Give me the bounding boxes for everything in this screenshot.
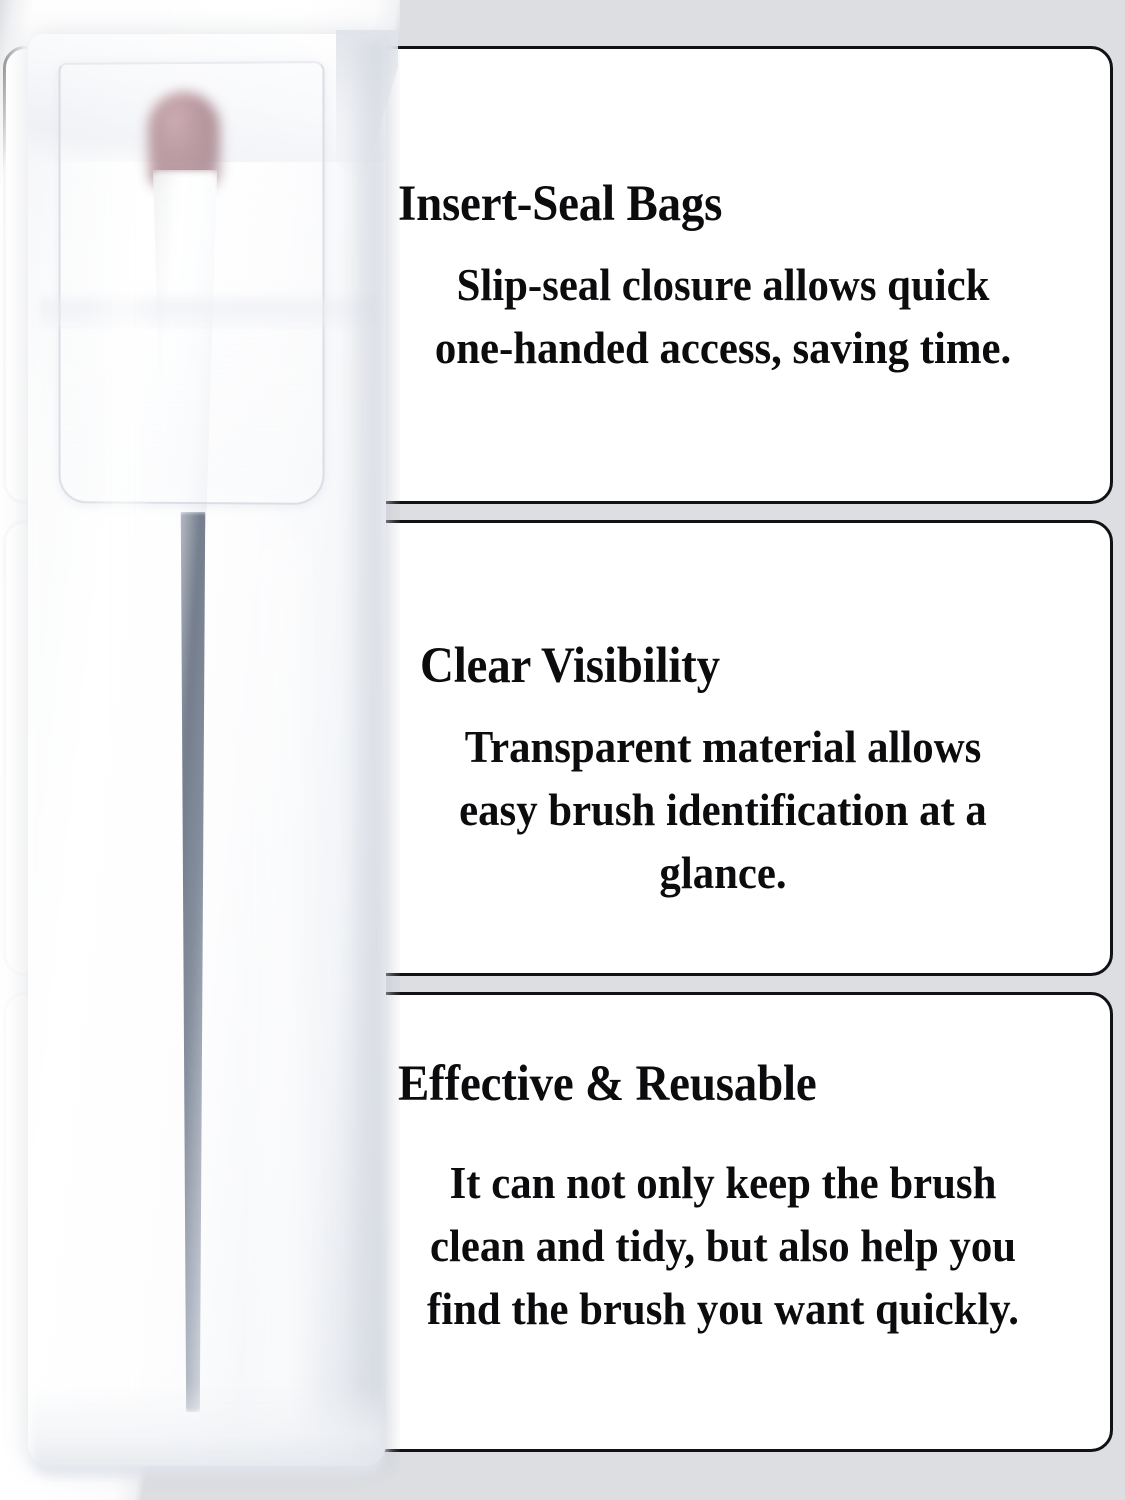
feature-text-effective-and-reusable: Effective & Reusable It can not only kee… xyxy=(398,1058,1048,1340)
feature-text-clear-visibility: Clear Visibility Transparent material al… xyxy=(398,640,1048,904)
feature-body-insert-seal-bags: Slip-seal closure allows quick one-hande… xyxy=(421,253,1026,379)
feature-title-clear-visibility: Clear Visibility xyxy=(420,640,998,693)
feature-text-insert-seal-bags: Insert-Seal Bags Slip-seal closure allow… xyxy=(398,178,1048,379)
feature-body-effective-and-reusable: It can not only keep the brush clean and… xyxy=(421,1151,1026,1340)
infographic-canvas: Insert-Seal Bags Slip-seal closure allow… xyxy=(0,0,1125,1500)
feature-title-insert-seal-bags: Insert-Seal Bags xyxy=(398,178,996,231)
feature-body-clear-visibility: Transparent material allows easy brush i… xyxy=(421,715,1026,904)
feature-title-effective-and-reusable: Effective & Reusable xyxy=(398,1058,996,1111)
